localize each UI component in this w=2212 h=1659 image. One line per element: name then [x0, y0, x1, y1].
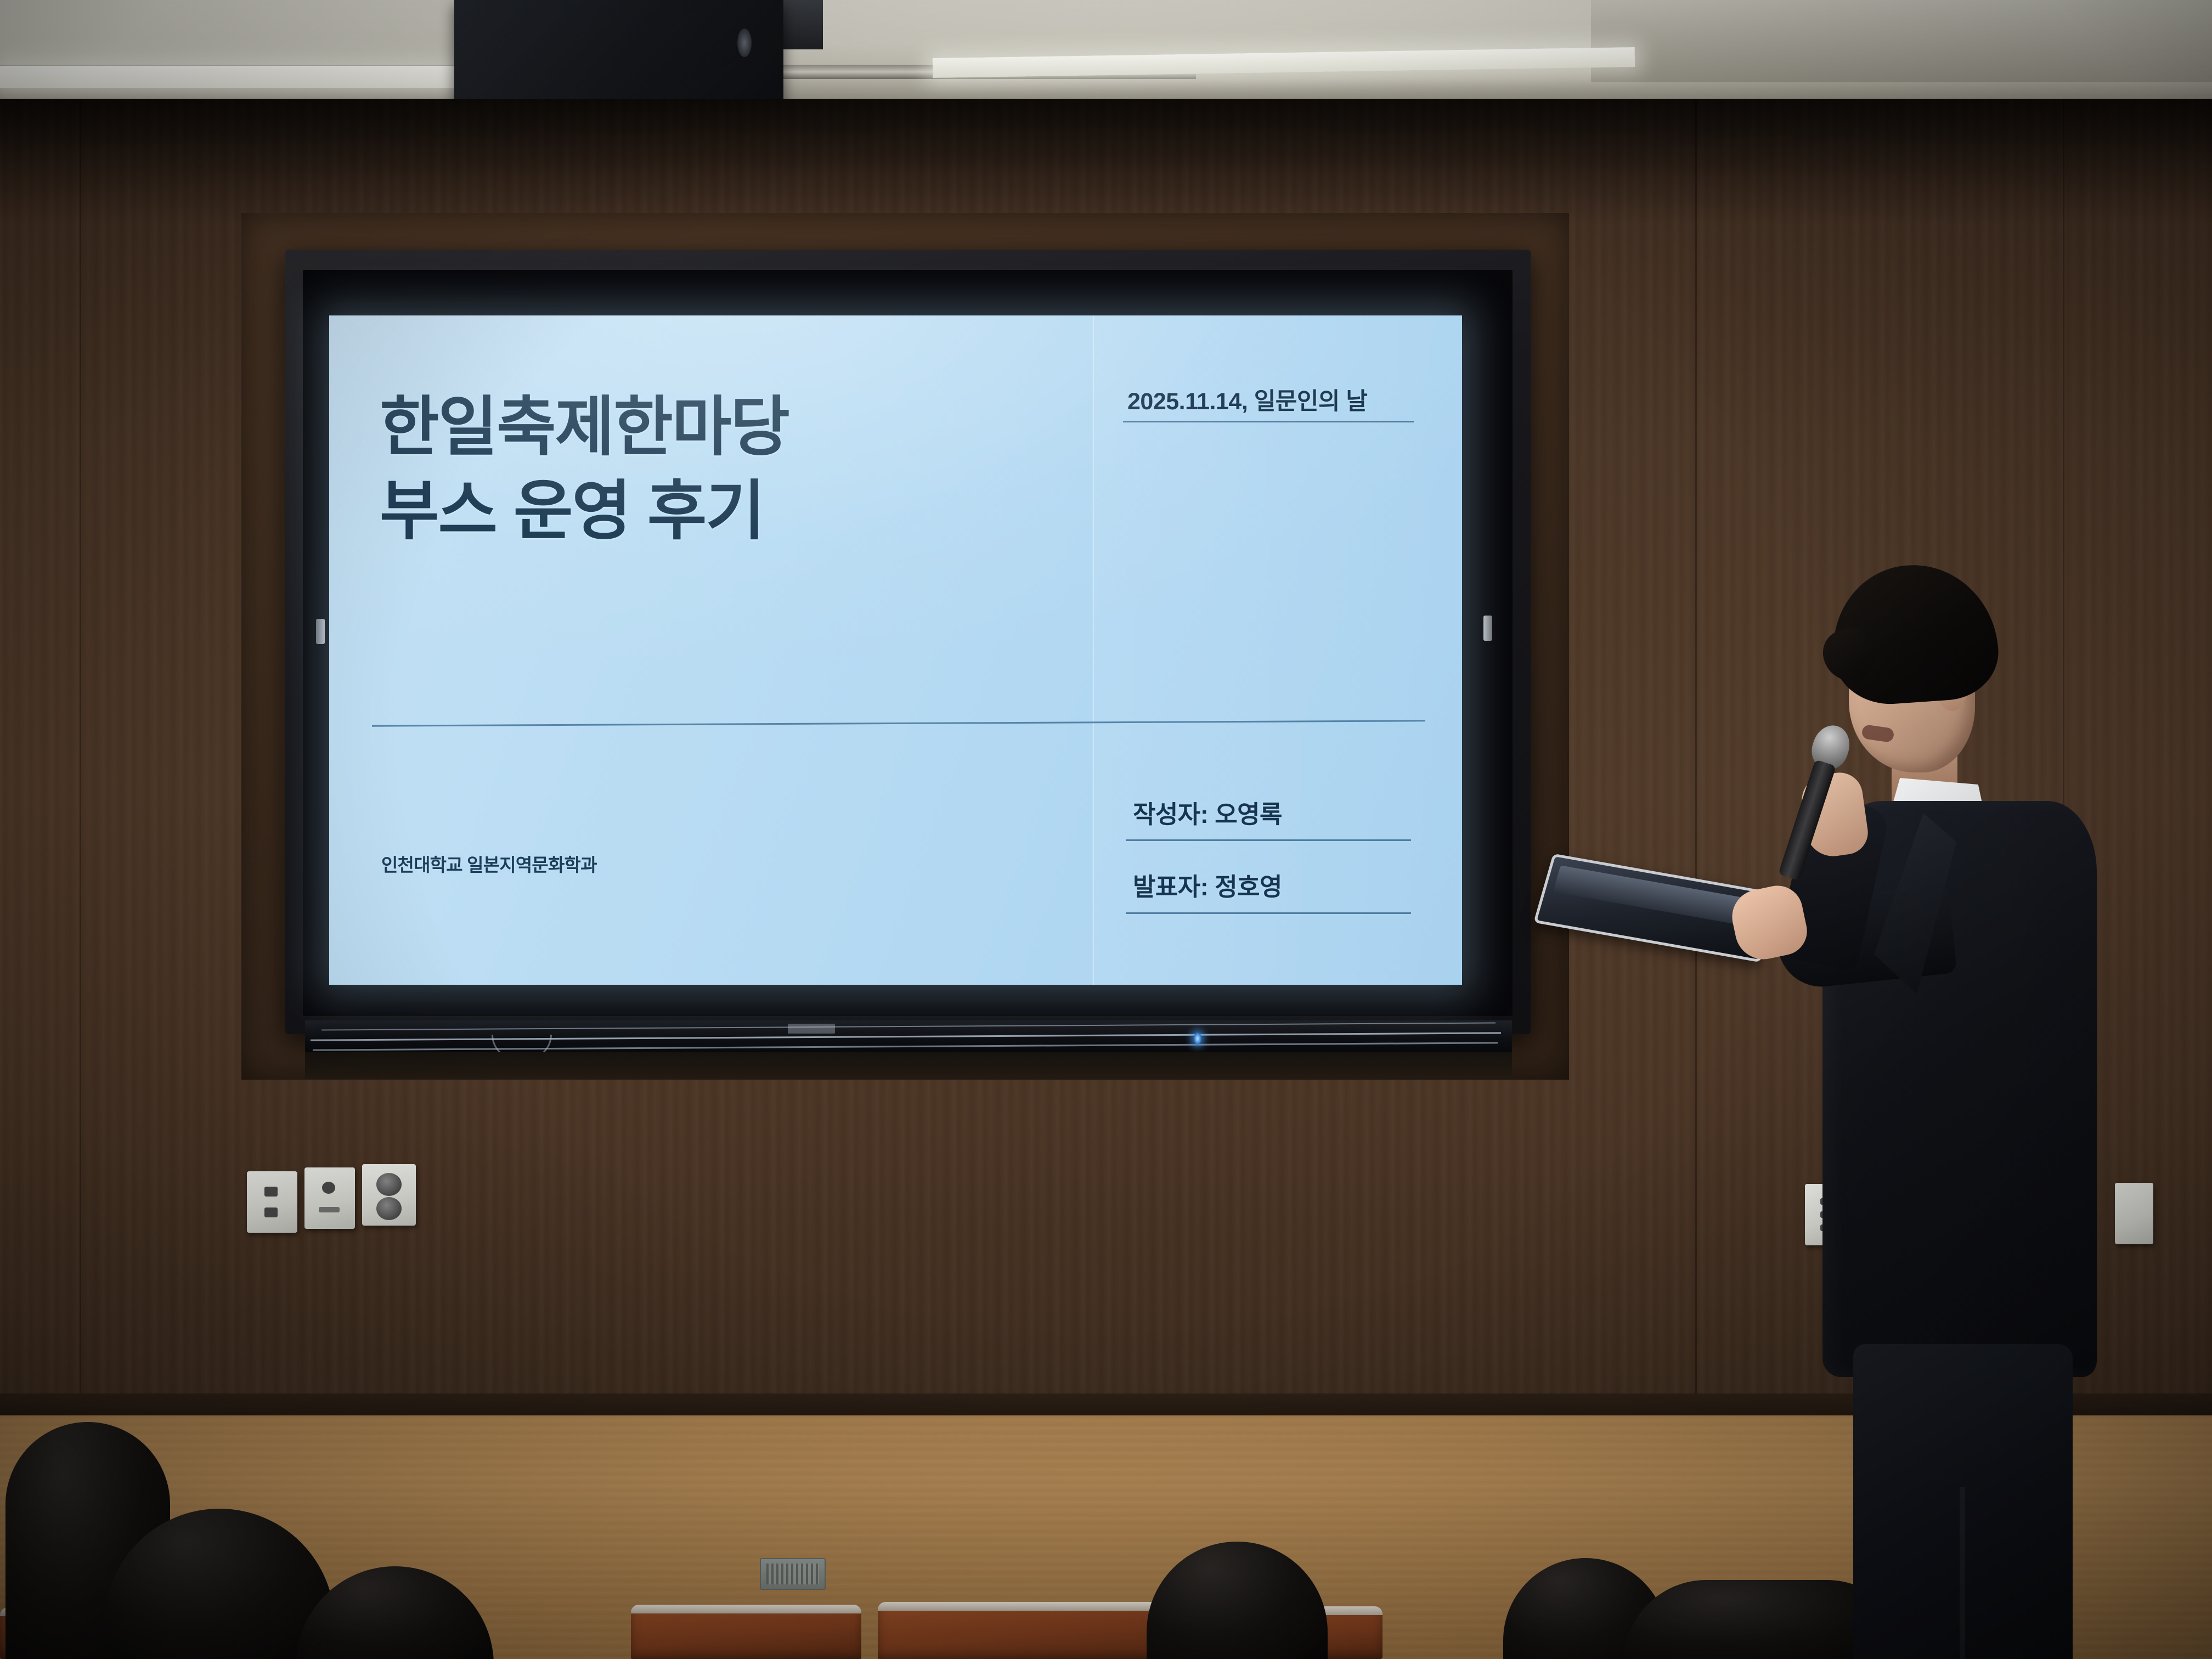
control-strip-line	[313, 1042, 1498, 1051]
display-lower-shroud	[305, 1052, 1512, 1079]
bezel-clip-right-icon	[1483, 616, 1492, 641]
slide-affiliation: 인천대학교 일본지역문화학과	[381, 850, 597, 877]
wall-top-shadow	[0, 99, 2212, 225]
slide-date-rule	[1123, 421, 1414, 422]
display-control-strip[interactable]	[305, 1020, 1512, 1053]
chair-top-edge	[631, 1605, 861, 1613]
wall-seam	[1695, 99, 1697, 1426]
switch-rocker-icon	[264, 1207, 278, 1217]
display-brand-logo	[788, 1024, 835, 1034]
slide-title: 한일축제한마당 부스 운영 후기	[380, 386, 789, 554]
slide-date-label: 2025.11.14, 일문인의 날	[1127, 382, 1367, 416]
bezel-clip-left-icon	[316, 619, 325, 644]
slide-presenter-rule	[1126, 912, 1411, 914]
auditorium-chair[interactable]	[631, 1605, 861, 1659]
lecture-hall-photo: 한일축제한마당 부스 운영 후기 2025.11.14, 일문인의 날 작성자:…	[0, 0, 2212, 1659]
switch-slot-icon	[319, 1207, 340, 1212]
ceiling-speaker-box	[454, 0, 783, 104]
wall-seam	[80, 99, 81, 1426]
trouser-leg-seam	[1960, 1487, 1965, 1659]
auditorium-chair[interactable]	[878, 1602, 1185, 1659]
chair-top-edge	[878, 1602, 1185, 1611]
switch-button-icon	[322, 1182, 335, 1194]
slide-presenter-label: 발표자: 정호영	[1133, 867, 1282, 902]
control-knob-icon[interactable]	[492, 1035, 552, 1053]
switch-rocker-icon	[264, 1187, 278, 1197]
floor-vent	[760, 1558, 826, 1590]
fluorescent-strip-left-icon	[0, 66, 461, 88]
power-led-indicator-icon	[1194, 1032, 1201, 1045]
presenter	[1745, 565, 2129, 1591]
control-strip-line	[321, 1022, 1496, 1030]
switch-plate-single[interactable]	[304, 1167, 355, 1229]
outlet-socket-icon	[376, 1173, 402, 1196]
slide-author-rule	[1126, 839, 1411, 841]
presenter-hair	[1828, 560, 2002, 708]
outlet-socket-icon	[376, 1197, 402, 1220]
power-outlet-duplex[interactable]	[362, 1164, 416, 1226]
switch-plate-double[interactable]	[247, 1171, 297, 1233]
control-strip-line	[311, 1032, 1501, 1041]
presentation-slide[interactable]: 한일축제한마당 부스 운영 후기 2025.11.14, 일문인의 날 작성자:…	[329, 315, 1462, 985]
ceiling-right-section	[1591, 0, 2212, 82]
slide-vertical-divider	[1093, 315, 1094, 985]
slide-author-label: 작성자: 오영록	[1133, 794, 1282, 830]
